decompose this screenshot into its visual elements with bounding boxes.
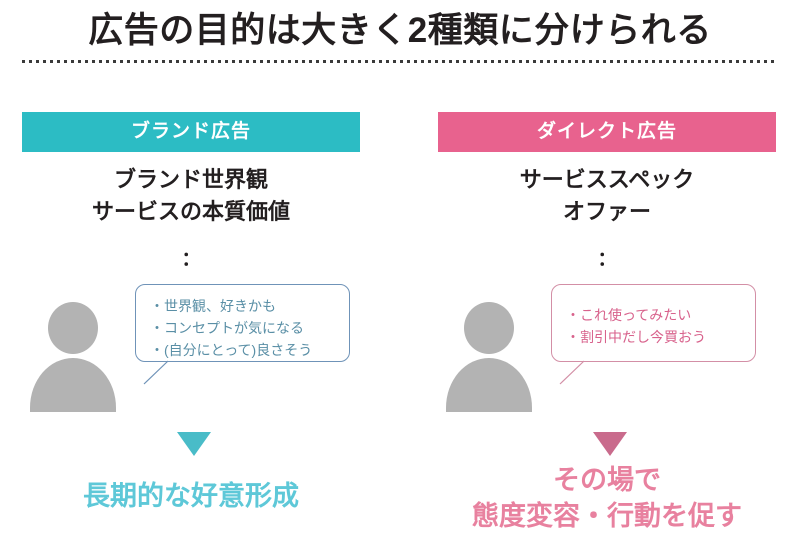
column-body-brand: ブランド世界観 サービスの本質価値 <box>22 164 360 228</box>
column-body-direct: サービススペック オファー <box>438 164 776 228</box>
bubble-line: ・(自分にとって)良さそう <box>150 342 312 358</box>
speech-bubble-direct: ・これ使ってみたい・割引中だし今買おう <box>551 284 756 362</box>
bubble-line: ・世界観、好きかも <box>150 298 276 314</box>
column-header-direct: ダイレクト広告 <box>438 112 776 152</box>
speech-bubble-tail-direct <box>556 360 586 386</box>
conclusion-brand: 長期的な好意形成 <box>22 478 360 514</box>
speech-bubble-tail-brand <box>140 360 170 386</box>
speech-bubble-brand: ・世界観、好きかも・コンセプトが気になる・(自分にとって)良さそう <box>135 284 350 362</box>
conclusion-line: 長期的な好意形成 <box>22 478 360 514</box>
person-head-icon <box>48 302 98 354</box>
person-body-icon <box>30 358 116 412</box>
title-section: 広告の目的は大きく2種類に分けられる <box>0 0 800 78</box>
bubble-line: ・これ使ってみたい <box>566 307 691 323</box>
speech-bubble-direct-text: ・これ使ってみたい・割引中だし今買おう <box>566 304 706 348</box>
body-line: オファー <box>438 196 776 228</box>
person-silhouette-direct <box>446 302 532 412</box>
person-silhouette-brand <box>30 302 116 412</box>
column-direct-advertising: ダイレクト広告 サービススペック オファー ： ・これ使ってみたい・割引中だし今… <box>438 112 778 545</box>
person-body-icon <box>446 358 532 412</box>
column-colon-direct: ： <box>438 252 776 268</box>
page-title: 広告の目的は大きく2種類に分けられる <box>0 8 800 54</box>
conclusion-line: 態度変容・行動を促す <box>438 498 776 534</box>
column-brand-advertising: ブランド広告 ブランド世界観 サービスの本質価値 ： ・世界観、好きかも・コンセ… <box>22 112 362 545</box>
bubble-line: ・割引中だし今買おう <box>566 329 706 345</box>
conclusion-line: その場で <box>438 462 776 498</box>
column-header-brand: ブランド広告 <box>22 112 360 152</box>
body-line: サービススペック <box>438 164 776 196</box>
conclusion-direct: その場で 態度変容・行動を促す <box>438 462 776 534</box>
title-dotted-rule <box>22 60 778 63</box>
person-head-icon <box>464 302 514 354</box>
column-colon-brand: ： <box>22 252 360 268</box>
body-line: ブランド世界観 <box>22 164 360 196</box>
bubble-line: ・コンセプトが気になる <box>150 320 304 336</box>
speech-bubble-brand-text: ・世界観、好きかも・コンセプトが気になる・(自分にとって)良さそう <box>150 295 312 361</box>
down-arrow-brand-icon <box>177 432 211 456</box>
body-line: サービスの本質価値 <box>22 196 360 228</box>
down-arrow-direct-icon <box>593 432 627 456</box>
